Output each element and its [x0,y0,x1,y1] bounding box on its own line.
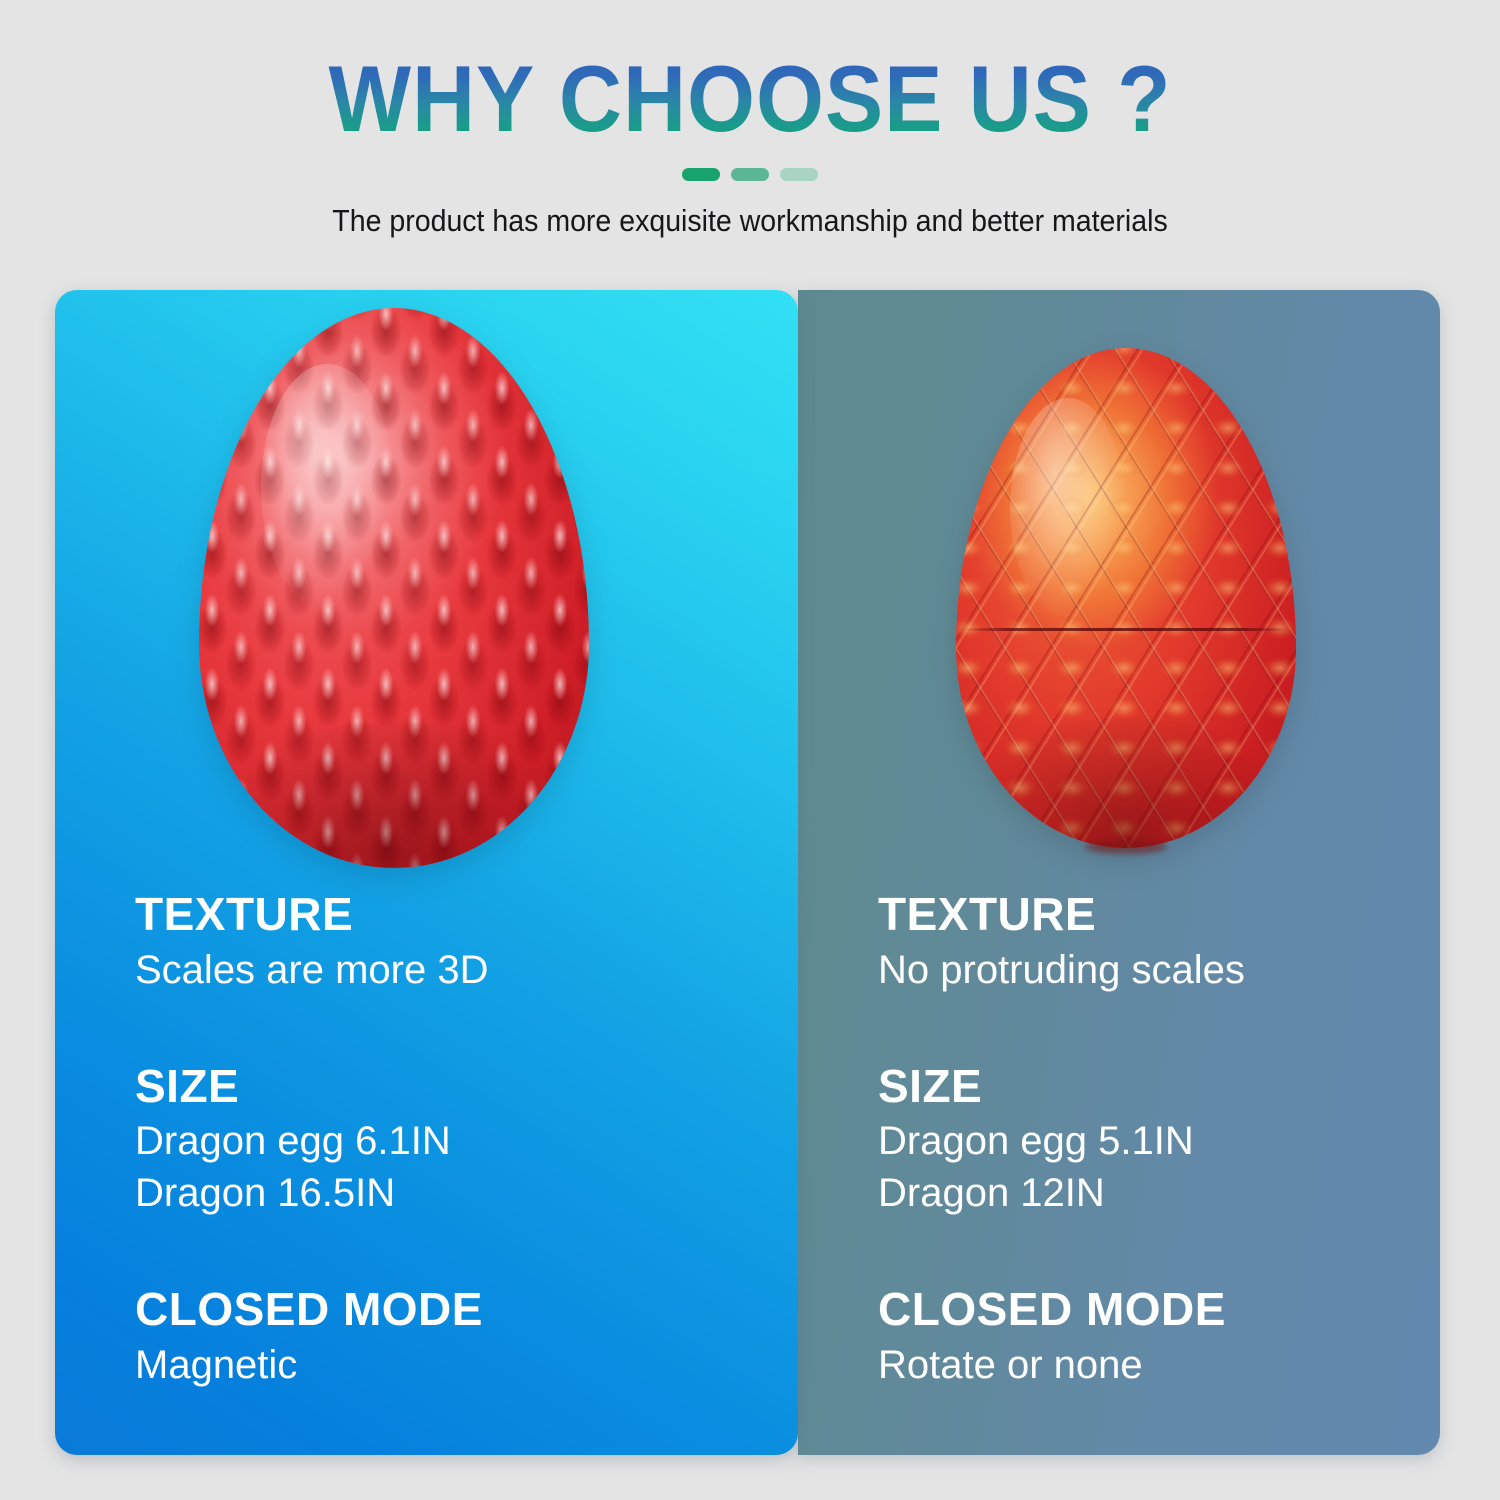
spec-label-closed-mode: CLOSED MODE [135,1285,695,1335]
dragon-egg-3d-scales-image [199,308,589,868]
spec-value-size-dragon: Dragon 16.5IN [135,1167,695,1219]
accent-dash-1 [682,168,720,181]
spec-label-texture: TEXTURE [135,890,695,940]
product-image-right [798,290,1440,890]
egg-body [199,308,589,868]
page-title: WHY CHOOSE US ? [53,52,1448,146]
egg-base-shadow [1085,840,1167,854]
accent-dashes [0,168,1500,181]
dragon-egg-flat-scales-image [956,348,1296,848]
spec-value-texture: Scales are more 3D [135,944,695,996]
egg-seam-line [963,628,1289,631]
spec-label-size: SIZE [135,1062,695,1112]
product-image-left [55,290,798,890]
page-header: WHY CHOOSE US ? The product has more exq… [0,0,1500,280]
spec-value-size-dragon: Dragon 12IN [878,1167,1438,1219]
scale-pattern-pointed-offset [199,308,589,868]
spec-value-size-egg: Dragon egg 5.1IN [878,1115,1438,1167]
page-subtitle: The product has more exquisite workmansh… [60,203,1440,239]
spec-list-left: TEXTURE Scales are more 3D SIZE Dragon e… [135,890,695,1391]
spec-label-closed-mode: CLOSED MODE [878,1285,1438,1335]
scale-pattern-diamond-highlight [956,348,1296,848]
spec-value-closed-mode: Rotate or none [878,1339,1438,1391]
comparison-panels: TEXTURE Scales are more 3D SIZE Dragon e… [55,290,1440,1455]
spec-label-size: SIZE [878,1062,1438,1112]
accent-dash-2 [731,168,769,181]
spec-value-closed-mode: Magnetic [135,1339,695,1391]
spec-value-texture: No protruding scales [878,944,1438,996]
comparison-card-right: TEXTURE No protruding scales SIZE Dragon… [798,290,1440,1455]
egg-body [956,348,1296,848]
spec-list-right: TEXTURE No protruding scales SIZE Dragon… [878,890,1438,1391]
spec-block-closed-mode: CLOSED MODE Rotate or none [878,1285,1438,1391]
spec-block-closed-mode: CLOSED MODE Magnetic [135,1285,695,1391]
spec-block-size: SIZE Dragon egg 5.1IN Dragon 12IN [878,1062,1438,1220]
comparison-card-left: TEXTURE Scales are more 3D SIZE Dragon e… [55,290,798,1455]
accent-dash-3 [780,168,818,181]
spec-value-size-egg: Dragon egg 6.1IN [135,1115,695,1167]
spec-block-size: SIZE Dragon egg 6.1IN Dragon 16.5IN [135,1062,695,1220]
spec-block-texture: TEXTURE Scales are more 3D [135,890,695,996]
spec-label-texture: TEXTURE [878,890,1438,940]
spec-block-texture: TEXTURE No protruding scales [878,890,1438,996]
